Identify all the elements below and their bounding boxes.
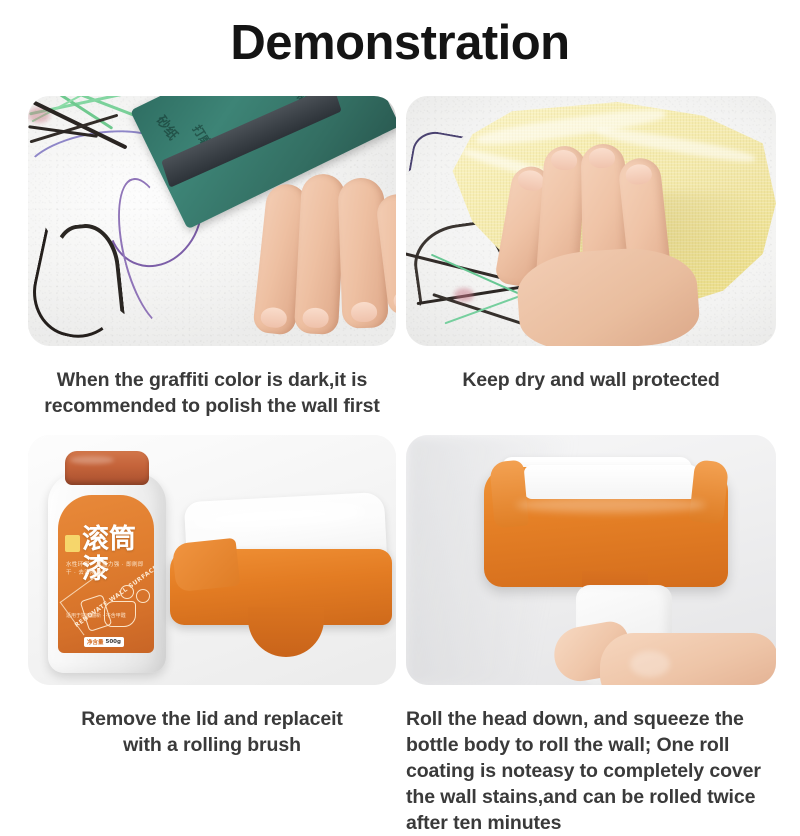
roller-bracket-right-arm (689, 459, 729, 524)
bottle-label: 滚筒漆 水性环保 · 遮盖力强 · 即刷即干 · 去污除渍 RENOVATE W… (58, 495, 154, 653)
photo-keep-dry (406, 96, 776, 346)
panel-polish-wall: DETAOJU 砂纸 打磨 120 海绵块 SHANG (28, 96, 396, 419)
bottle-cap (65, 451, 149, 485)
caption-line: Remove the lid and replaceit (28, 706, 396, 732)
fingernail (589, 148, 615, 168)
fingernail (625, 163, 653, 186)
panel-roll-wall: Roll the head down, and squeeze the bott… (406, 435, 776, 836)
caption-line: bottle body to roll the wall; One roll (406, 732, 776, 758)
label-illustration: RENOVATE WALL SURFACE (66, 575, 146, 633)
photo-roll-wall (406, 435, 776, 685)
weight-label: 净含量 (87, 638, 104, 646)
caption-replace-lid: Remove the lid and replaceit with a roll… (28, 706, 396, 758)
fingernail (302, 307, 329, 328)
photo-replace-lid: 滚筒漆 水性环保 · 遮盖力强 · 即刷即干 · 去污除渍 RENOVATE W… (28, 435, 396, 685)
roller-cover-gap (524, 465, 698, 499)
demonstration-page: Demonstration (0, 0, 800, 800)
label-weight-badge: 净含量 500g (84, 637, 124, 647)
caption-line: after ten minutes (406, 810, 776, 836)
roller-bracket-lip (172, 538, 241, 592)
fingernail (392, 288, 396, 311)
photo-polish-wall: DETAOJU 砂纸 打磨 120 海绵块 SHANG (28, 96, 396, 346)
palm (600, 633, 776, 685)
caption-line: coating is noteasy to completely cover (406, 758, 776, 784)
caption-polish-wall: When the graffiti color is dark,it is re… (28, 367, 396, 419)
sponge-text-line: 砂纸 (153, 111, 184, 143)
fingernail (550, 149, 577, 171)
caption-line: When the graffiti color is dark,it is (28, 367, 396, 393)
knuckle-highlight (630, 651, 670, 677)
roller-connector-arm (248, 607, 324, 657)
caption-roll-wall: Roll the head down, and squeeze the bott… (406, 706, 776, 836)
fingernail (260, 306, 288, 329)
caption-line: Keep dry and wall protected (406, 367, 776, 393)
roller-bracket-left-arm (489, 460, 529, 529)
badge-circle-icon (120, 585, 134, 599)
roller-highlight (516, 497, 706, 513)
caption-keep-dry: Keep dry and wall protected (406, 367, 776, 393)
hand-squeezing-bottle (554, 603, 776, 685)
page-title: Demonstration (0, 14, 800, 72)
caption-line: the wall stains,and can be rolled twice (406, 784, 776, 810)
caption-line: Roll the head down, and squeeze the (406, 706, 776, 732)
hand-holding-sponge (254, 180, 396, 346)
label-tag-icon (65, 535, 80, 552)
paint-bottle: 滚筒漆 水性环保 · 遮盖力强 · 即刷即干 · 去污除渍 RENOVATE W… (48, 451, 166, 673)
label-footer-text: 适用于墙面翻新 · 不含甲醛 (66, 613, 140, 620)
fingernail (351, 302, 378, 323)
weight-value: 500g (106, 639, 121, 645)
panel-keep-dry: Keep dry and wall protected (406, 96, 776, 393)
badge-circle-icon (136, 589, 150, 603)
panel-replace-lid: 滚筒漆 水性环保 · 遮盖力强 · 即刷即干 · 去污除渍 RENOVATE W… (28, 435, 396, 758)
roller-brush-head (170, 497, 392, 661)
hand-wiping-wall (494, 122, 724, 346)
caption-line: with a rolling brush (28, 732, 396, 758)
caption-line: recommended to polish the wall first (28, 393, 396, 419)
